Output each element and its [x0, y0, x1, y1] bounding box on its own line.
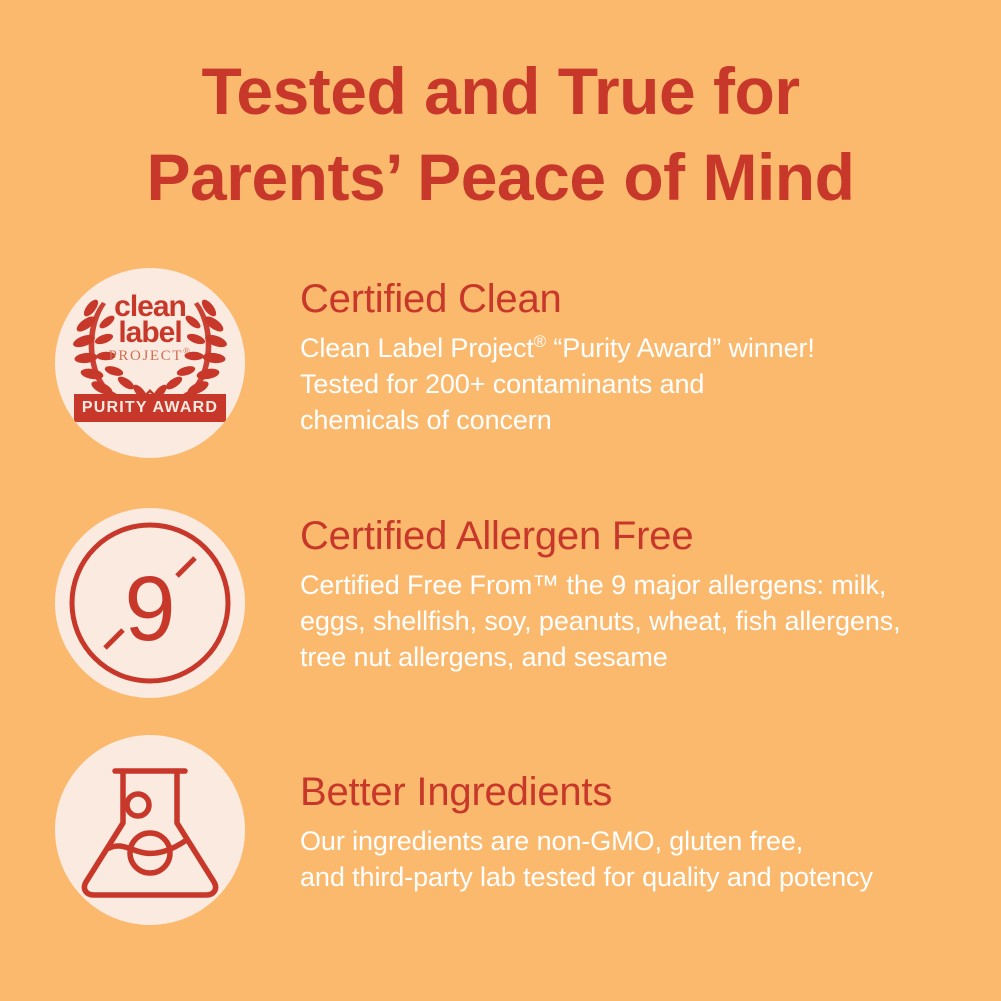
feature-body-line: Tested for 200+ contaminants and — [300, 366, 981, 402]
page-title: Tested and True for Parents’ Peace of Mi… — [0, 48, 1001, 220]
feature-icon-container — [0, 765, 300, 925]
feature-text-block: Certified Clean Clean Label Project® “Pu… — [300, 268, 1001, 438]
allergen-free-badge: 9 — [55, 508, 245, 698]
allergen-count-number: 9 — [124, 558, 175, 660]
feature-body-line: Clean Label Project® “Purity Award” winn… — [300, 330, 981, 366]
feature-body-line: eggs, shellfish, soy, peanuts, wheat, fi… — [300, 603, 981, 639]
feature-text-block: Better Ingredients Our ingredients are n… — [300, 765, 1001, 895]
nine-no-symbol-icon: 9 — [55, 508, 245, 698]
feature-title: Certified Allergen Free — [300, 513, 981, 559]
feature-body: Certified Free From™ the 9 major allerge… — [300, 567, 981, 675]
feature-body-line: and third-party lab tested for quality a… — [300, 859, 981, 895]
feature-body-line: Our ingredients are non-GMO, gluten free… — [300, 823, 981, 859]
feature-icon-container: 9 — [0, 508, 300, 698]
feature-body-line: Certified Free From™ the 9 major allerge… — [300, 567, 981, 603]
erlenmeyer-flask-icon — [55, 735, 245, 925]
badge-purity-award-banner: PURITY AWARD — [74, 394, 226, 422]
feature-certified-clean: clean label PROJECT® PURITY AWARD Certif… — [0, 268, 1001, 458]
promotional-infographic: Tested and True for Parents’ Peace of Mi… — [0, 0, 1001, 1001]
badge-word-label: label — [55, 316, 245, 350]
feature-body-line: chemicals of concern — [300, 402, 981, 438]
feature-body-line: tree nut allergens, and sesame — [300, 639, 981, 675]
feature-better-ingredients: Better Ingredients Our ingredients are n… — [0, 765, 1001, 925]
badge-word-project: PROJECT® — [55, 348, 245, 365]
feature-body: Clean Label Project® “Purity Award” winn… — [300, 330, 981, 438]
feature-title: Certified Clean — [300, 276, 981, 322]
clean-label-project-badge: clean label PROJECT® PURITY AWARD — [55, 268, 245, 458]
feature-icon-container: clean label PROJECT® PURITY AWARD — [0, 268, 300, 458]
headline-line-2: Parents’ Peace of Mind — [0, 134, 1001, 220]
feature-title: Better Ingredients — [300, 769, 981, 815]
feature-certified-allergen-free: 9 Certified Allergen Free Certified Free… — [0, 508, 1001, 698]
feature-body: Our ingredients are non-GMO, gluten free… — [300, 823, 981, 895]
headline-line-1: Tested and True for — [0, 48, 1001, 134]
better-ingredients-badge — [55, 735, 245, 925]
feature-text-block: Certified Allergen Free Certified Free F… — [300, 508, 1001, 675]
